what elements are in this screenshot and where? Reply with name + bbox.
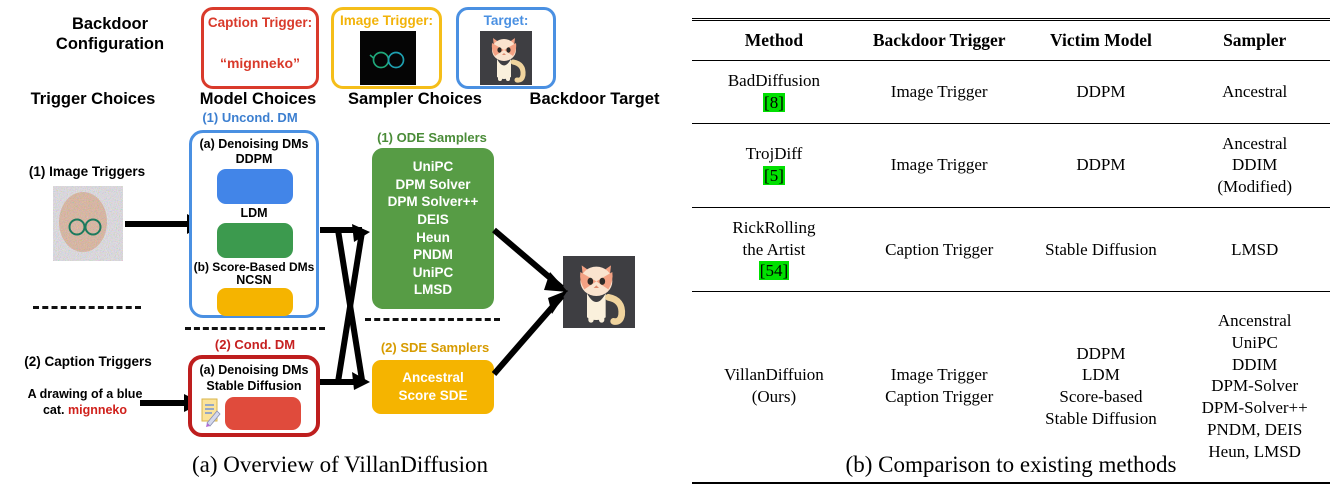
sde-sampler-item: Score SDE bbox=[398, 387, 467, 405]
dashed-separator-sampler bbox=[365, 318, 500, 321]
th-backdoor-trigger: Backdoor Trigger bbox=[856, 20, 1023, 61]
caption-trigger-title: Caption Trigger: bbox=[204, 15, 316, 30]
cell-victim: DDPM bbox=[1023, 123, 1180, 207]
table-bottom-rule-row bbox=[692, 483, 1330, 484]
target-title: Target: bbox=[459, 13, 553, 28]
sde-sampler-item: Ancestral bbox=[402, 369, 464, 387]
panel-overview: Backdoor Configuration Caption Trigger: … bbox=[0, 0, 680, 492]
method-name: RickRolling the Artist bbox=[732, 218, 815, 259]
note-pencil-icon bbox=[200, 397, 222, 427]
sde-samplers-box: Ancestral Score SDE bbox=[372, 360, 494, 414]
method-name: BadDiffusion bbox=[728, 71, 820, 90]
uncond-dm-group-title: (1) Uncond. DM bbox=[170, 110, 330, 125]
citation-number: 8 bbox=[770, 93, 779, 112]
arrows-samplers-to-target bbox=[492, 222, 570, 392]
comparison-table-wrap: Method Backdoor Trigger Victim Model Sam… bbox=[692, 18, 1330, 484]
citation-ref: [8] bbox=[763, 93, 785, 112]
cell-sampler: Ancestral bbox=[1179, 61, 1330, 124]
column-label-trigger-choices: Trigger Choices bbox=[8, 90, 178, 109]
cell-trigger: Image Trigger bbox=[856, 123, 1023, 207]
cell-victim: DDPM bbox=[1023, 61, 1180, 124]
citation-number: 5 bbox=[770, 166, 779, 185]
dashed-separator-model bbox=[185, 327, 325, 330]
ode-sampler-item: Heun bbox=[416, 229, 450, 247]
image-trigger-thumbnail bbox=[360, 31, 416, 85]
ode-samplers-group-title: (1) ODE Samplers bbox=[357, 130, 507, 145]
table-body: BadDiffusion [8] Image Trigger DDPM Ance… bbox=[692, 61, 1330, 485]
model-chip-ncsn bbox=[217, 288, 293, 316]
table-row: BadDiffusion [8] Image Trigger DDPM Ance… bbox=[692, 61, 1330, 124]
cell-method: BadDiffusion [8] bbox=[692, 61, 856, 124]
ode-sampler-item: DPM Solver++ bbox=[388, 193, 479, 211]
uncond-dm-box: (a) Denoising DMs DDPM LDM (b) Score-Bas… bbox=[189, 130, 319, 318]
th-sampler: Sampler bbox=[1179, 20, 1330, 61]
ode-sampler-item: PNDM bbox=[413, 246, 453, 264]
table-row: RickRolling the Artist [54] Caption Trig… bbox=[692, 207, 1330, 291]
cond-stable-diffusion-label: Stable Diffusion bbox=[192, 379, 316, 393]
uncond-score-based-dms-label: (b) Score-Based DMs bbox=[192, 260, 316, 274]
citation-ref: [54] bbox=[759, 261, 789, 280]
backdoor-configuration-label: Backdoor Configuration bbox=[30, 14, 190, 54]
cat-icon bbox=[480, 31, 532, 85]
arrows-model-to-samplers bbox=[318, 222, 378, 397]
caption-trigger-value: “mignneko” bbox=[204, 55, 316, 71]
noisy-face-trigger-image bbox=[53, 186, 123, 261]
table-bottom-rule bbox=[692, 483, 1330, 484]
cell-sampler: Ancestral DDIM (Modified) bbox=[1179, 123, 1330, 207]
ode-sampler-item: UniPC bbox=[413, 158, 454, 176]
ode-sampler-item: DPM Solver bbox=[395, 176, 470, 194]
citation-ref: [5] bbox=[763, 166, 785, 185]
uncond-denoising-dms-label: (a) Denoising DMs bbox=[192, 137, 316, 151]
image-trigger-box: Image Trigger: bbox=[331, 7, 442, 89]
target-cat-thumbnail bbox=[480, 31, 532, 85]
sde-samplers-group-title: (2) SDE Samplers bbox=[360, 340, 510, 355]
caption-triggers-label: (2) Caption Triggers bbox=[2, 354, 174, 371]
cell-method: TrojDiff [5] bbox=[692, 123, 856, 207]
target-box: Target: bbox=[456, 7, 556, 89]
cat-target-icon bbox=[563, 256, 635, 328]
th-victim-model: Victim Model bbox=[1023, 20, 1180, 61]
image-triggers-label: (1) Image Triggers bbox=[3, 164, 171, 181]
cell-sampler: LMSD bbox=[1179, 207, 1330, 291]
backdoor-target-image bbox=[563, 256, 635, 328]
ode-sampler-item: LMSD bbox=[414, 281, 452, 299]
model-chip-stable-diffusion bbox=[225, 397, 301, 430]
cond-dm-box: (a) Denoising DMs Stable Diffusion bbox=[188, 355, 320, 437]
subcaption-b: (b) Comparison to existing methods bbox=[700, 452, 1322, 478]
table-header-row: Method Backdoor Trigger Victim Model Sam… bbox=[692, 20, 1330, 61]
cond-denoising-dms-label: (a) Denoising DMs bbox=[192, 363, 316, 377]
comparison-table: Method Backdoor Trigger Victim Model Sam… bbox=[692, 18, 1330, 484]
table-row: TrojDiff [5] Image Trigger DDPM Ancestra… bbox=[692, 123, 1330, 207]
cell-victim: Stable Diffusion bbox=[1023, 207, 1180, 291]
caption-text-trigger-word: mignneko bbox=[68, 403, 127, 417]
cell-trigger: Caption Trigger bbox=[856, 207, 1023, 291]
uncond-ddpm-label: DDPM bbox=[192, 152, 316, 166]
column-label-backdoor-target: Backdoor Target bbox=[512, 90, 677, 109]
glasses-icon bbox=[360, 31, 416, 85]
citation-number: 54 bbox=[765, 261, 782, 280]
table-head: Method Backdoor Trigger Victim Model Sam… bbox=[692, 20, 1330, 61]
method-name: TrojDiff bbox=[746, 144, 803, 163]
dashed-separator-left bbox=[33, 306, 141, 309]
ode-samplers-box: UniPC DPM Solver DPM Solver++ DEIS Heun … bbox=[372, 148, 494, 309]
caption-trigger-text: A drawing of a blue cat. mignneko bbox=[10, 387, 160, 418]
image-trigger-title: Image Trigger: bbox=[334, 13, 439, 28]
cond-dm-group-title: (2) Cond. DM bbox=[185, 337, 325, 352]
cell-method: RickRolling the Artist [54] bbox=[692, 207, 856, 291]
uncond-ncsn-label: NCSN bbox=[192, 273, 316, 287]
subcaption-a: (a) Overview of VillanDiffusion bbox=[60, 452, 620, 478]
ode-sampler-item: DEIS bbox=[417, 211, 449, 229]
ode-sampler-item: UniPC bbox=[413, 264, 454, 282]
uncond-ldm-label: LDM bbox=[192, 206, 316, 220]
cell-trigger: Image Trigger bbox=[856, 61, 1023, 124]
th-method: Method bbox=[692, 20, 856, 61]
noisy-face-icon bbox=[53, 186, 123, 261]
caption-trigger-box: Caption Trigger: “mignneko” bbox=[201, 7, 319, 89]
column-label-model-choices: Model Choices bbox=[178, 90, 338, 109]
model-chip-ldm bbox=[217, 223, 293, 258]
model-chip-ddpm bbox=[217, 169, 293, 204]
panel-comparison-table: Method Backdoor Trigger Victim Model Sam… bbox=[680, 0, 1342, 492]
column-label-sampler-choices: Sampler Choices bbox=[330, 90, 500, 109]
